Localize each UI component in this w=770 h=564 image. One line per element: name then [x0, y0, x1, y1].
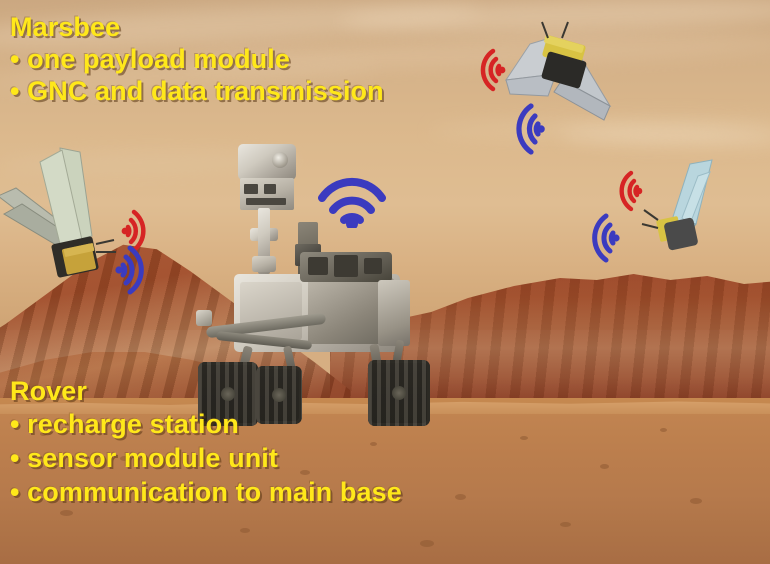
- marsbee-rover-illustration: Marsbee • one payload module • GNC and d…: [0, 0, 770, 564]
- rover-camera-head: [238, 144, 296, 180]
- rover-bullet-1: • recharge station: [10, 411, 402, 438]
- rover-mast-joint-lower: [252, 256, 276, 272]
- marsbee-heading: Marsbee: [10, 14, 384, 41]
- marsbee-annotation-block: Marsbee • one payload module • GNC and d…: [10, 14, 384, 110]
- wifi-signal-icon: [463, 48, 507, 92]
- wifi-signal-icon: [602, 170, 644, 212]
- wifi-signal-icon: [493, 102, 547, 156]
- rover-top-equipment: [300, 252, 392, 282]
- wifi-signal-icon: [316, 152, 388, 228]
- wifi-signal-icon: [570, 212, 622, 264]
- rover-annotation-block: Rover • recharge station • sensor module…: [10, 378, 402, 513]
- rover-instrument-box: [240, 178, 294, 210]
- marsbee-bullet-1: • one payload module: [10, 46, 384, 73]
- wifi-signal-icon: [114, 244, 166, 296]
- rover-bullet-2: • sensor module unit: [10, 445, 402, 472]
- rover-bullet-3: • communication to main base: [10, 479, 402, 506]
- marsbee-bullet-2: • GNC and data transmission: [10, 78, 384, 105]
- rover-rear-housing: [378, 280, 410, 346]
- marsbee-right: [636, 158, 746, 263]
- rover-arm-turret: [196, 310, 212, 326]
- rover-heading: Rover: [10, 378, 402, 405]
